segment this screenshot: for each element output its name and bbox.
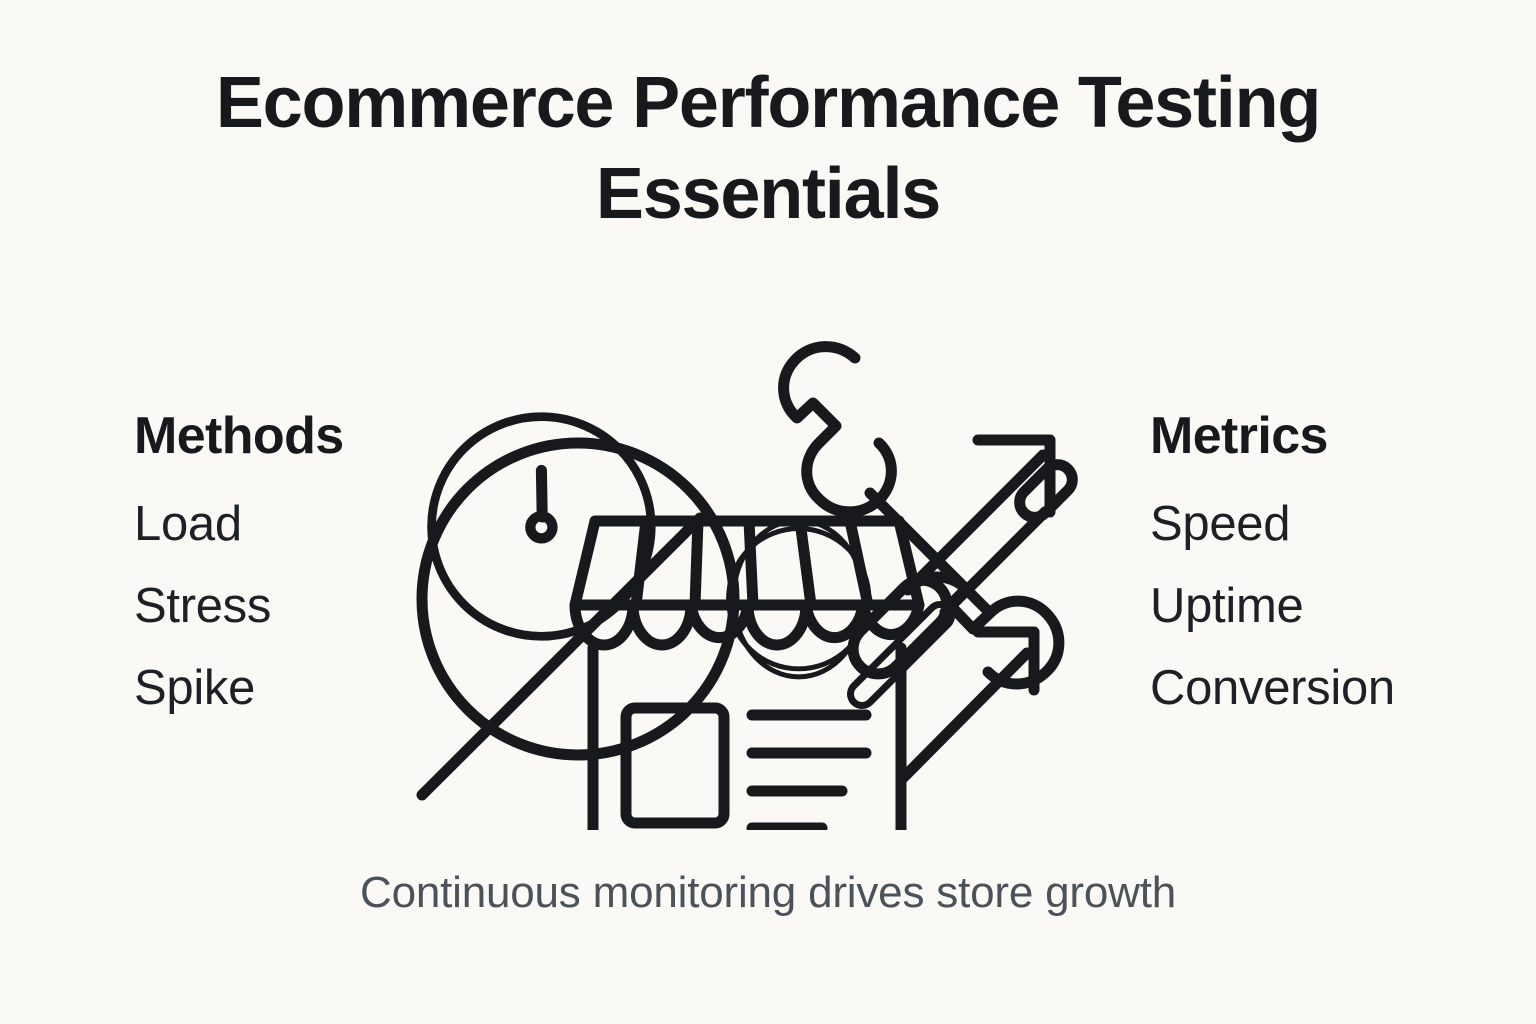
- methods-item-load: Load: [134, 500, 344, 549]
- methods-item-spike: Spike: [134, 664, 344, 713]
- metrics-item-uptime: Uptime: [1150, 582, 1395, 631]
- title-line-2: Essentials: [0, 149, 1536, 240]
- growth-arrow-lower-head-icon: [904, 632, 1034, 777]
- methods-heading: Methods: [134, 410, 344, 462]
- metrics-heading: Metrics: [1150, 410, 1395, 462]
- illustration: [400, 250, 1100, 830]
- page-title: Ecommerce Performance Testing Essentials: [0, 58, 1536, 239]
- caption: Continuous monitoring drives store growt…: [0, 868, 1536, 918]
- metrics-item-conversion: Conversion: [1150, 664, 1395, 713]
- title-line-1: Ecommerce Performance Testing: [0, 58, 1536, 149]
- metrics-column: Metrics Speed Uptime Conversion: [1150, 410, 1395, 713]
- methods-column: Methods Load Stress Spike: [134, 410, 344, 713]
- infographic-page: { "title": { "line1": "Ecommerce Perform…: [0, 0, 1536, 1024]
- metrics-item-speed: Speed: [1150, 500, 1395, 549]
- methods-item-stress: Stress: [134, 582, 344, 631]
